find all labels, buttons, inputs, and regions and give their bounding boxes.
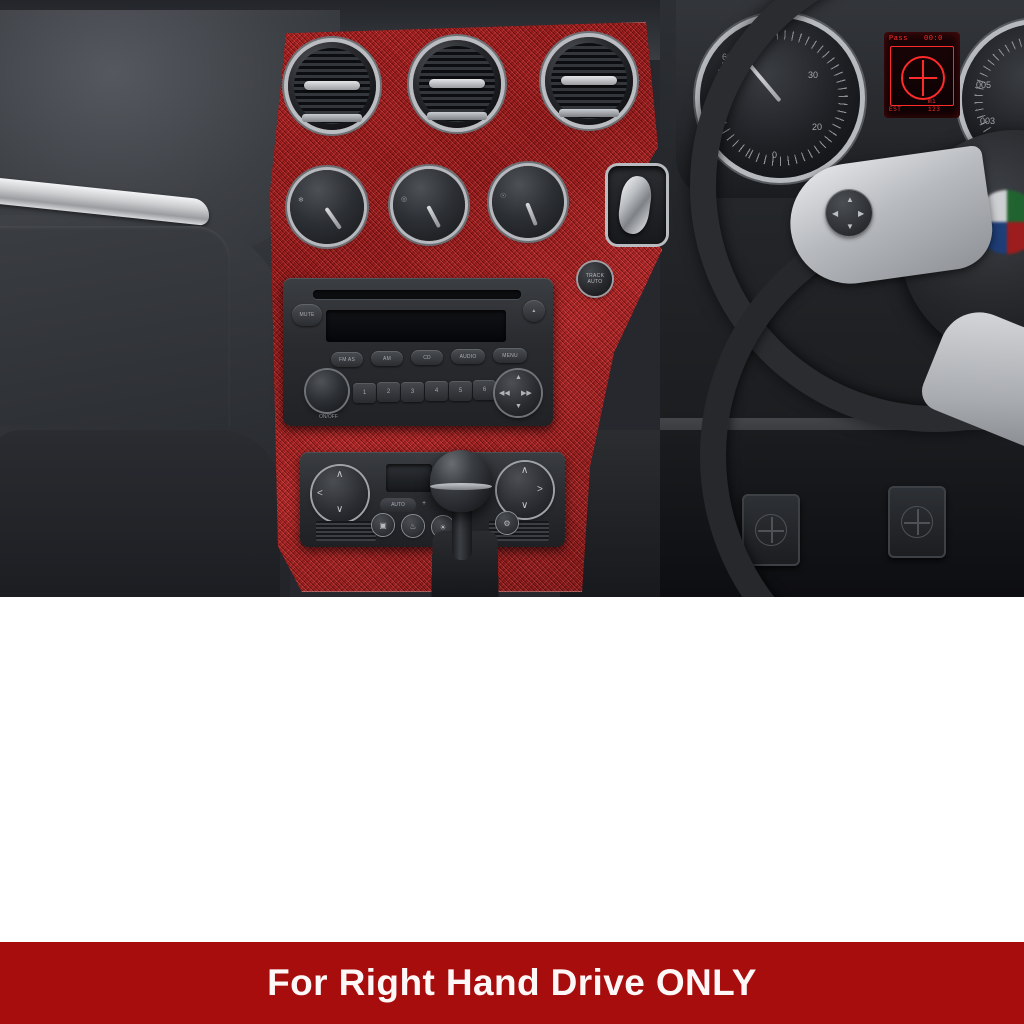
preset-button-4[interactable]: 4 [425,381,448,401]
gear-shifter-knob[interactable] [430,450,492,512]
chevron-up-icon: ∧ [336,469,343,480]
fast-forward-icon: ▶▶ [521,389,532,397]
knob-mark-icon: ☉ [500,192,506,200]
chevron-down-icon: ∨ [336,504,343,515]
auto-button[interactable]: AUTO [380,498,416,512]
preset-button-5[interactable]: 5 [449,381,472,401]
shifter-chrome-ring [430,483,492,490]
chevron-up-icon: ▲ [846,195,854,204]
preset-button-2[interactable]: 2 [377,382,400,402]
dashboard-photo: 60 30 20 0 005 003 002 Pass 00:0 mi EST … [0,0,1024,597]
preset-button-1[interactable]: 1 [353,383,376,403]
door-handle-recess [608,166,666,244]
left-climate-rocker[interactable]: ∧ < ∨ [312,466,368,522]
vent-slider[interactable] [427,112,487,120]
audio-control-pad[interactable]: ▲ ◀ ▶ ▼ [826,190,872,236]
chevron-down-icon: ▼ [515,403,522,410]
radio-display [326,310,506,342]
chevron-left-icon: ◀ [832,209,838,218]
climate-display [386,464,432,492]
track-auto-label: TRACK AUTO [586,273,604,285]
vent-left[interactable] [288,42,376,130]
power-label: ON/OFF [319,414,338,420]
mute-button[interactable]: MUTE [292,304,322,326]
volume-power-knob[interactable] [306,370,348,412]
vent-adjust-bar[interactable] [429,79,485,89]
glovebox-panel [0,226,230,426]
knob-fan[interactable]: ❄ [290,170,364,244]
cd-button[interactable]: CD [411,350,443,365]
rear-defrost-button[interactable]: ▣ [372,514,394,536]
knob-pointer [525,203,538,227]
chrome-door-handle[interactable] [616,174,654,236]
chevron-right-icon: ▶ [858,209,864,218]
knob-mark-icon: ◎ [401,195,407,203]
knob-mode[interactable]: ☉ [492,166,564,238]
vent-adjust-bar[interactable] [561,76,617,86]
chevron-right-icon: > [537,484,543,495]
right-hand-drive-text: For Right Hand Drive ONLY [267,962,757,1004]
menu-button[interactable]: MENU [493,348,527,363]
cd-slot[interactable] [313,290,521,299]
chevron-up-icon: ∧ [521,465,528,476]
radio-navigation-pad[interactable]: ▲ ◀◀ ▶▶ ▼ [495,370,541,416]
eject-button[interactable]: ▲ [523,300,545,322]
knob-temp[interactable]: ◎ [393,169,465,241]
right-hand-drive-banner: For Right Hand Drive ONLY [0,942,1024,1024]
chevron-up-icon: ▲ [515,374,522,381]
preset-button-3[interactable]: 3 [401,382,424,402]
product-listing-image: 60 30 20 0 005 003 002 Pass 00:0 mi EST … [0,0,1024,1024]
temp-plus-label[interactable]: + [422,500,426,507]
radio-head-unit: MUTE ▲ FM AS AM CD AUDIO MENU 1 2 3 4 5 … [283,278,553,426]
knob-mark-icon: ❄ [298,196,304,204]
knee-pad-panel [0,430,280,597]
audio-button[interactable]: AUDIO [451,349,485,364]
chevron-down-icon: ∨ [521,500,528,511]
vent-slider[interactable] [302,114,362,122]
climate-grill-left [316,521,376,541]
vent-center[interactable] [413,40,501,128]
front-defrost-button[interactable]: ♨ [402,515,424,537]
preset-button-6[interactable]: 6 [473,380,496,400]
chevron-down-icon: ▼ [846,222,854,231]
chevron-left-icon: < [317,488,323,499]
vent-right[interactable] [545,37,633,125]
vent-slider[interactable] [559,109,619,117]
rewind-icon: ◀◀ [499,389,510,397]
recirculation-button[interactable]: ⚙ [496,512,518,534]
track-auto-button[interactable]: TRACK AUTO [578,262,612,296]
right-climate-rocker[interactable]: ∧ > ∨ [497,462,553,518]
knob-pointer [324,207,342,230]
fm-as-button[interactable]: FM AS [331,352,363,367]
am-button[interactable]: AM [371,351,403,366]
knob-pointer [426,205,441,229]
vent-adjust-bar[interactable] [304,81,360,91]
